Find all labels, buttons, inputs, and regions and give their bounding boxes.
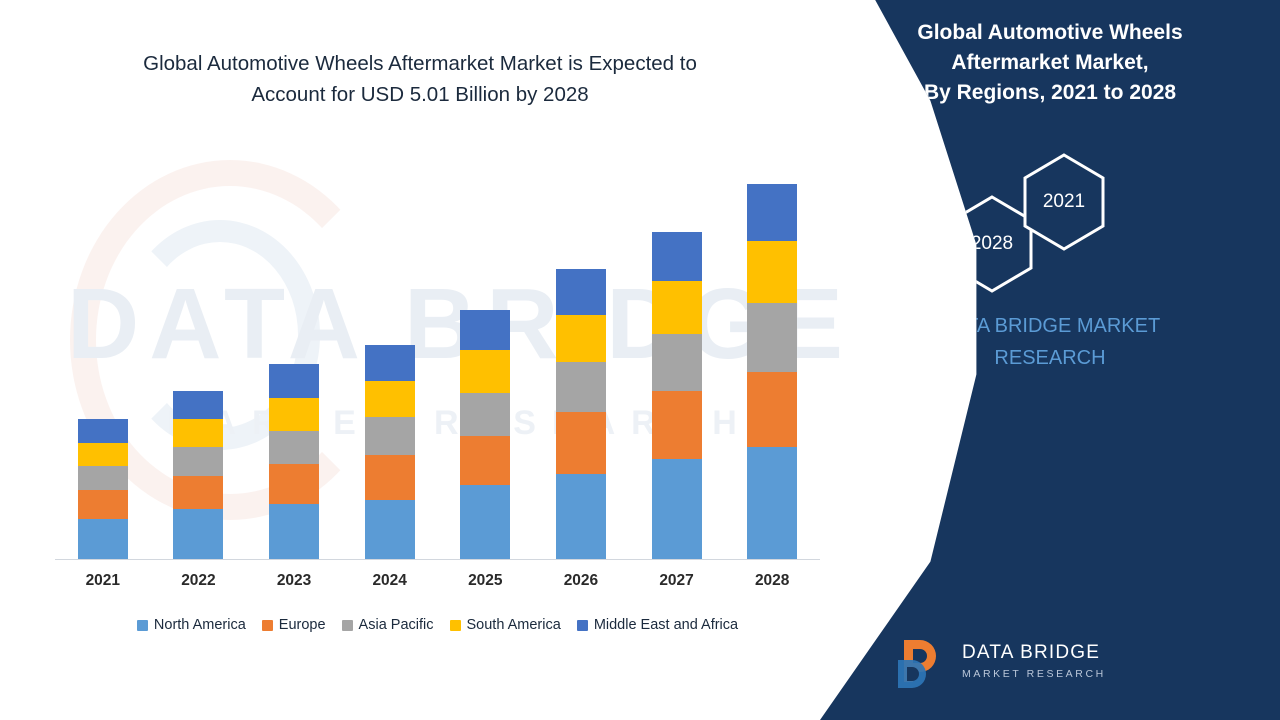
bar-column xyxy=(365,345,415,559)
chart-title-line-2: Account for USD 5.01 Billion by 2028 xyxy=(40,79,800,110)
bar-segment xyxy=(173,447,223,475)
legend-item[interactable]: Middle East and Africa xyxy=(577,617,738,633)
x-axis-label: 2025 xyxy=(460,572,510,590)
hexagon-2021: 2021 xyxy=(1020,152,1108,252)
x-axis-line xyxy=(55,559,820,560)
x-axis-label: 2027 xyxy=(652,572,702,590)
legend-swatch xyxy=(137,620,148,631)
bar-segment xyxy=(747,241,797,303)
bar-segment xyxy=(747,372,797,448)
bar-column xyxy=(747,184,797,559)
bar-segment xyxy=(365,417,415,455)
legend-label: Europe xyxy=(279,617,326,633)
bar-segment xyxy=(747,303,797,372)
bar-segment xyxy=(269,504,319,559)
bar-segment xyxy=(173,391,223,419)
infographic-root: DATA BRIDGE MARKET RESEARCH Global Autom… xyxy=(0,0,1280,720)
bar-segment xyxy=(78,490,128,518)
legend-label: South America xyxy=(467,617,561,633)
x-axis-label: 2026 xyxy=(556,572,606,590)
hexagon-2021-label: 2021 xyxy=(1020,152,1108,252)
legend-label: North America xyxy=(154,617,246,633)
bar-segment xyxy=(652,391,702,460)
x-axis-label: 2023 xyxy=(269,572,319,590)
bar-segment xyxy=(365,455,415,500)
plot-region xyxy=(55,150,820,560)
chart-title: Global Automotive Wheels Aftermarket Mar… xyxy=(40,48,800,110)
bar-segment xyxy=(365,381,415,417)
bar-column xyxy=(652,232,702,559)
bar-column xyxy=(556,269,606,559)
x-axis-label: 2021 xyxy=(78,572,128,590)
bar-segment xyxy=(652,334,702,391)
bar-segment xyxy=(78,419,128,443)
bar-column xyxy=(269,364,319,559)
legend-label: Asia Pacific xyxy=(359,617,434,633)
legend-swatch xyxy=(450,620,461,631)
legend-item[interactable]: Europe xyxy=(262,617,326,633)
footer-logo-text: DATA BRIDGE MARKET RESEARCH xyxy=(962,642,1106,680)
bar-segment xyxy=(652,232,702,282)
footer-logo-line-2: MARKET RESEARCH xyxy=(962,668,1106,680)
bar-group xyxy=(55,150,820,559)
bar-segment xyxy=(173,476,223,509)
legend-swatch xyxy=(342,620,353,631)
legend-item[interactable]: North America xyxy=(137,617,246,633)
x-axis-label: 2028 xyxy=(747,572,797,590)
x-axis-label: 2024 xyxy=(365,572,415,590)
bar-segment xyxy=(747,447,797,559)
bar-segment xyxy=(78,519,128,559)
legend-item[interactable]: South America xyxy=(450,617,561,633)
bar-segment xyxy=(460,393,510,436)
x-axis-labels: 20212022202320242025202620272028 xyxy=(55,572,820,590)
legend-item[interactable]: Asia Pacific xyxy=(342,617,434,633)
bar-segment xyxy=(460,485,510,559)
bar-segment xyxy=(78,466,128,490)
chart-legend: North AmericaEuropeAsia PacificSouth Ame… xyxy=(55,617,820,633)
bar-column xyxy=(460,310,510,559)
legend-swatch xyxy=(577,620,588,631)
bar-segment xyxy=(269,431,319,464)
bar-segment xyxy=(460,350,510,393)
footer-logo-line-1: DATA BRIDGE xyxy=(962,642,1106,664)
bar-segment xyxy=(269,464,319,504)
bar-segment xyxy=(365,345,415,381)
bar-segment xyxy=(78,443,128,467)
bar-segment xyxy=(460,436,510,486)
panel-title-line-1: Global Automotive Wheels xyxy=(848,18,1252,48)
data-bridge-logo-icon xyxy=(890,630,952,692)
bar-segment xyxy=(556,269,606,314)
bar-segment xyxy=(747,184,797,241)
bar-segment xyxy=(173,509,223,559)
bar-segment xyxy=(556,315,606,362)
bar-segment xyxy=(269,398,319,431)
bar-column xyxy=(78,419,128,559)
bar-segment xyxy=(556,412,606,474)
bar-segment xyxy=(269,364,319,397)
legend-label: Middle East and Africa xyxy=(594,617,738,633)
bar-segment xyxy=(556,474,606,559)
footer-logo: DATA BRIDGE MARKET RESEARCH xyxy=(890,630,1106,692)
bar-segment xyxy=(652,281,702,333)
bar-segment xyxy=(460,310,510,350)
bar-segment xyxy=(365,500,415,559)
legend-swatch xyxy=(262,620,273,631)
bar-segment xyxy=(556,362,606,412)
x-axis-label: 2022 xyxy=(173,572,223,590)
bar-segment xyxy=(652,459,702,559)
chart-title-line-1: Global Automotive Wheels Aftermarket Mar… xyxy=(40,48,800,79)
bar-column xyxy=(173,391,223,559)
bar-segment xyxy=(173,419,223,447)
